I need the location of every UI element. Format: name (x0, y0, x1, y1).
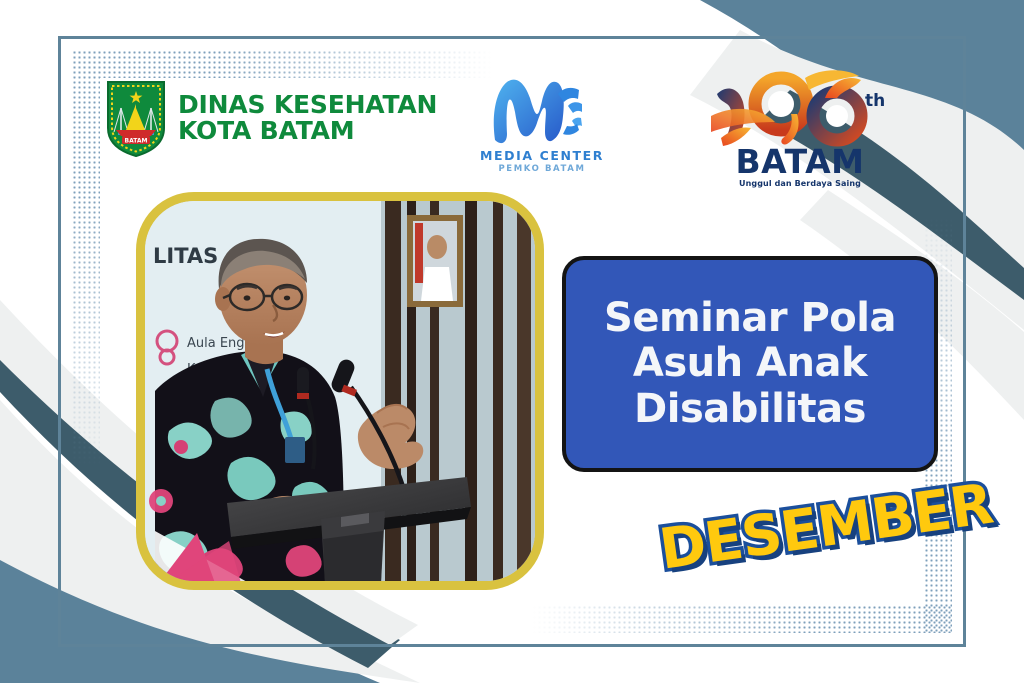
seminar-title-card: Seminar Pola Asuh Anak Disabilitas (562, 256, 938, 472)
seminar-title-text: Seminar Pola Asuh Anak Disabilitas (566, 296, 934, 433)
speaker-at-podium-photo: LITAS Aula Engk Kes (136, 192, 544, 590)
anniversary-ordinal: th (865, 91, 885, 111)
photo-illustration: LITAS Aula Engk Kes (145, 201, 535, 581)
poster-canvas: BATAM DINAS KESEHATAN KOTA BATAM (0, 0, 1024, 683)
anniversary-city-label: BATAM (700, 142, 900, 181)
media-center-lockup: MEDIA CENTER PEMKO BATAM (478, 68, 606, 174)
media-center-line2: PEMKO BATAM (478, 164, 606, 174)
dinas-kesehatan-line2: KOTA BATAM (178, 118, 437, 145)
dinas-kesehatan-line1: DINAS KESEHATAN (178, 92, 437, 119)
batam-city-crest-icon: BATAM (104, 78, 168, 158)
header-logos: BATAM DINAS KESEHATAN KOTA BATAM (0, 62, 1024, 192)
anniversary-lockup: th BATAM Unggul dan Berdaya Saing (700, 64, 900, 188)
screen-text-fragment-1: LITAS (153, 244, 218, 268)
dinas-kesehatan-lockup: BATAM DINAS KESEHATAN KOTA BATAM (104, 78, 437, 158)
crest-banner-label: BATAM (125, 137, 148, 144)
media-center-line1: MEDIA CENTER (478, 148, 606, 163)
photo-content: LITAS Aula Engk Kes (145, 201, 535, 581)
media-center-mc-logo-icon (483, 68, 601, 150)
